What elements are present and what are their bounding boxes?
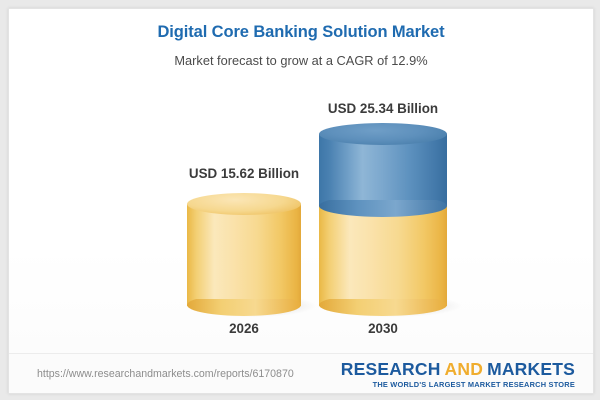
brand-wordmark: RESEARCHANDMARKETS	[341, 360, 575, 379]
bar-2030-growth-top-cap	[319, 123, 447, 145]
report-url[interactable]: https://www.researchandmarkets.com/repor…	[37, 368, 294, 380]
bar-2026-body-overlay	[187, 204, 301, 299]
footer-divider	[9, 353, 593, 354]
bar-2026-category-label: 2026	[184, 321, 304, 336]
brand-word-markets: MARKETS	[487, 359, 575, 379]
bar-2030-value-label: USD 25.34 Billion	[303, 101, 463, 116]
chart-subtitle: Market forecast to grow at a CAGR of 12.…	[9, 53, 593, 68]
bar-2030-base-body-overlay	[319, 204, 447, 299]
brand-word-and: AND	[441, 359, 488, 379]
brand-tagline: THE WORLD'S LARGEST MARKET RESEARCH STOR…	[341, 380, 575, 390]
bar-2030-category-label: 2030	[323, 321, 443, 336]
bar-2030[interactable]	[319, 123, 447, 315]
chart-title: Digital Core Banking Solution Market	[9, 23, 593, 42]
bar-2026[interactable]	[187, 193, 301, 315]
bar-2026-segment-base	[187, 193, 301, 315]
brand-logo[interactable]: RESEARCHANDMARKETS THE WORLD'S LARGEST M…	[341, 360, 575, 390]
footer: https://www.researchandmarkets.com/repor…	[9, 354, 593, 392]
bar-2030-segment-growth	[319, 123, 447, 217]
chart-card: Digital Core Banking Solution Market Mar…	[8, 8, 594, 394]
brand-word-research: RESEARCH	[341, 359, 441, 379]
bar-2026-value-label: USD 15.62 Billion	[164, 166, 324, 181]
bar-2026-top-cap	[187, 193, 301, 215]
